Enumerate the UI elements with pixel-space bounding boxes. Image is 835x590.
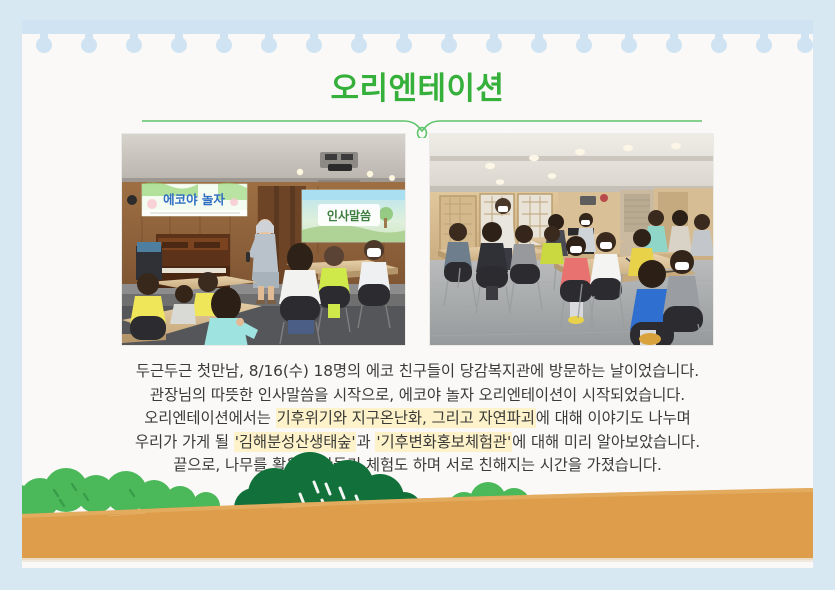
page-title: 오리엔테이션: [330, 72, 504, 106]
ground-fill: [22, 488, 813, 560]
scallop-border-decoration: [22, 20, 813, 70]
body-segment: 두근두근 첫만남, 8/16(수) 18명의 에코 친구들이 당감복지관에 방문…: [136, 362, 699, 380]
photo-left[interactable]: 에코야 놀자 인사말씀: [121, 133, 406, 346]
body-segment: 우리가 가게 될: [135, 433, 234, 451]
body-segment: 에 대해 미리 알아보았습니다.: [512, 433, 700, 451]
body-line-5: 끝으로, 나무를 활용한 만들기 체험도 하며 서로 친해지는 시간을 가졌습니…: [22, 454, 813, 478]
body-segment-highlight: '기후변화홍보체험관': [375, 432, 512, 452]
svg-text:인사말씀: 인사말씀: [327, 208, 371, 223]
bush-highlight-dashes: [300, 482, 360, 514]
body-segment: 관장님의 따뜻한 인사말씀을 시작으로, 에코야 놀자 오리엔테이션이 시작되었…: [150, 386, 685, 404]
body-line-2: 관장님의 따뜻한 인사말씀을 시작으로, 에코야 놀자 오리엔테이션이 시작되었…: [22, 384, 813, 408]
photo-right[interactable]: [429, 133, 714, 346]
body-text: 두근두근 첫만남, 8/16(수) 18명의 에코 친구들이 당감복지관에 방문…: [22, 360, 813, 478]
photo-row: 에코야 놀자 인사말씀: [22, 133, 813, 349]
body-segment-highlight: 기후위기와 지구온난화, 그리고 자연파괴: [276, 408, 536, 428]
body-segment: 오리엔테이션에서는: [144, 409, 275, 427]
svg-text:에코야 놀자: 에코야 놀자: [163, 192, 225, 207]
body-segment-highlight: '김해분성산생태숲': [234, 432, 357, 452]
poster-root: 오리엔테이션: [0, 0, 835, 590]
body-segment: 에 대해 이야기도 나누며: [536, 409, 691, 427]
title-container: 오리엔테이션: [22, 72, 813, 106]
body-line-4: 우리가 가게 될 '김해분성산생태숲'과 '기후변화홍보체험관'에 대해 미리 …: [22, 431, 813, 455]
poster-card: 오리엔테이션: [22, 20, 813, 568]
body-line-1: 두근두근 첫만남, 8/16(수) 18명의 에코 친구들이 당감복지관에 방문…: [22, 360, 813, 384]
body-line-3: 오리엔테이션에서는 기후위기와 지구온난화, 그리고 자연파괴에 대해 이야기도…: [22, 407, 813, 431]
body-segment: 과: [356, 433, 375, 451]
body-segment: 끝으로, 나무를 활용한 만들기 체험도 하며 서로 친해지는 시간을 가졌습니…: [173, 456, 662, 474]
